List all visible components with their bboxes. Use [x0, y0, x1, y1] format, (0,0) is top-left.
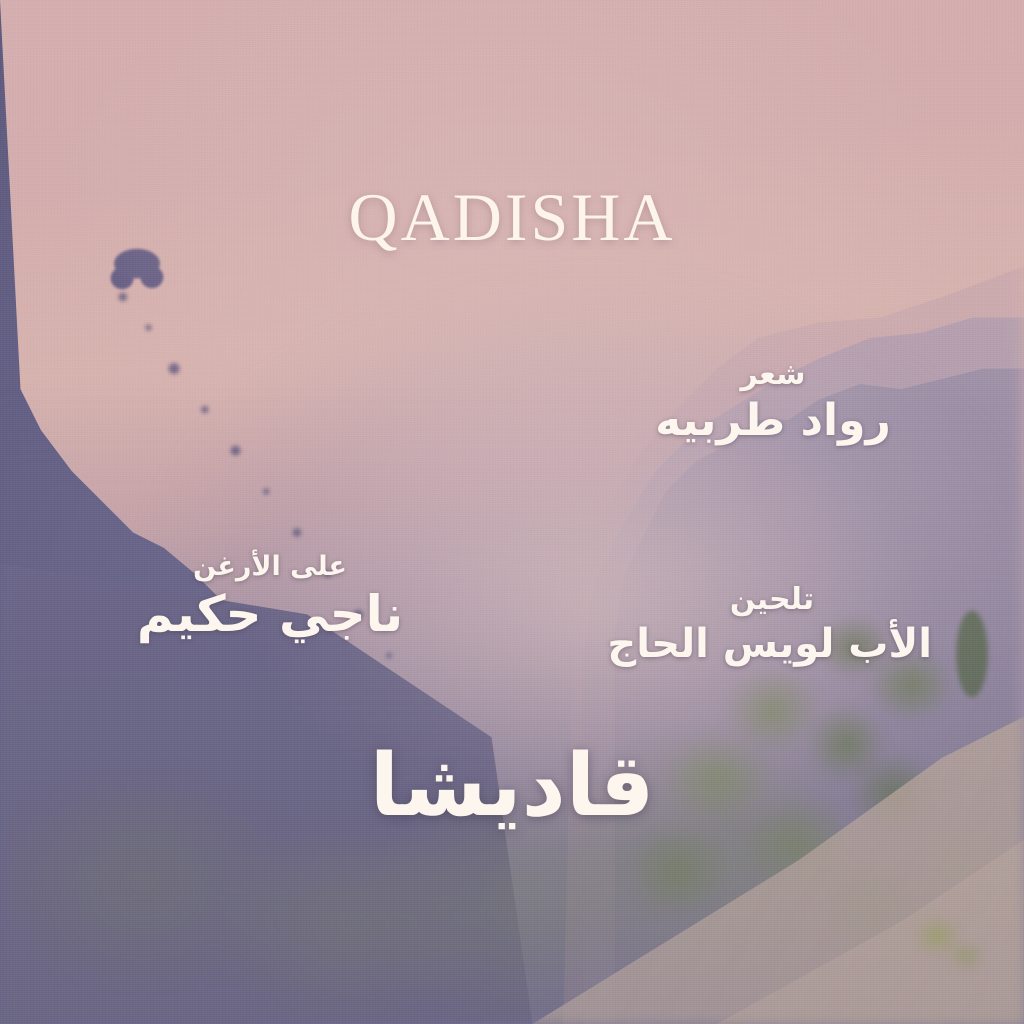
credit-organ-role: على الأرغن [120, 552, 420, 582]
credit-organ-block: على الأرغن ناجي حكيم [120, 552, 420, 647]
rock-scrub-layer [880, 900, 1000, 990]
album-cover-artwork: QADISHA شعر رواد طربيه تلحين الأب لويس ا… [0, 0, 1024, 1024]
credit-music-person: الأب لويس الحاج [612, 616, 932, 672]
album-title-arabic: قاديشا [0, 736, 1024, 836]
credit-music-role: تلحين [612, 583, 932, 616]
album-title-latin: QADISHA [0, 178, 1024, 257]
credit-organ-person: ناجي حكيم [120, 582, 420, 647]
credit-lyrics-role: شعر [618, 358, 928, 391]
credit-music-block: تلحين الأب لويس الحاج [612, 583, 932, 672]
credit-lyrics-person: رواد طربيه [618, 391, 928, 450]
cypress-tree-icon [948, 600, 996, 720]
credit-lyrics-block: شعر رواد طربيه [618, 358, 928, 450]
